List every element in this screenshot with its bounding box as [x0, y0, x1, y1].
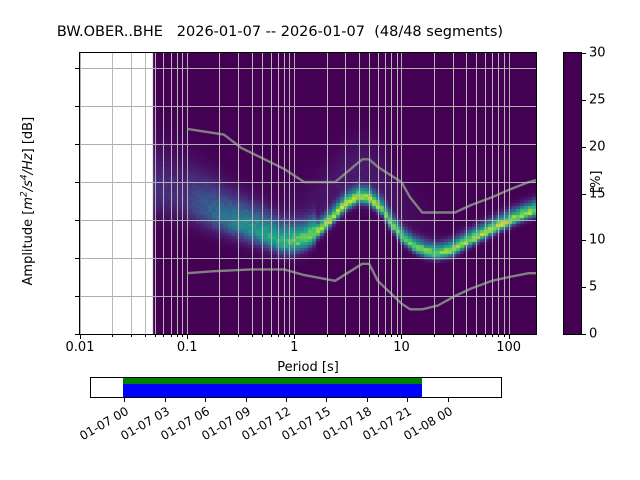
- x-tick-label: 10: [393, 340, 410, 355]
- x-tick-label: 0.01: [66, 340, 95, 355]
- gridline-vertical-minor: [289, 53, 290, 334]
- gridline-vertical-minor: [182, 53, 183, 334]
- y-tick-mark: [75, 296, 79, 297]
- x-tick-mark-minor: [434, 335, 435, 337]
- x-tick-label: 1: [290, 340, 298, 355]
- x-tick-mark-minor: [289, 335, 290, 337]
- gridline-vertical-minor: [131, 53, 132, 334]
- colorbar-tick-label: 20: [589, 139, 606, 154]
- gridline-vertical-minor: [327, 53, 328, 334]
- x-tick-mark-minor: [385, 335, 386, 337]
- colorbar-tick-mark: [582, 147, 586, 148]
- x-tick-mark-minor: [112, 335, 113, 337]
- data-coverage-blue: [123, 384, 422, 397]
- timeline-tick-mark: [286, 398, 287, 402]
- colorbar-tick-mark: [582, 194, 586, 195]
- gridline-vertical-minor: [262, 53, 263, 334]
- x-tick-mark: [80, 335, 81, 339]
- gridline-vertical-minor: [466, 53, 467, 334]
- colorbar-tick-mark: [582, 287, 586, 288]
- y-tick-mark: [75, 106, 79, 107]
- gridline-vertical-minor: [145, 53, 146, 334]
- x-tick-mark-minor: [327, 335, 328, 337]
- x-tick-mark-minor: [219, 335, 220, 337]
- colorbar[interactable]: [563, 52, 582, 335]
- y-tick-mark: [75, 220, 79, 221]
- gridline-vertical-minor: [453, 53, 454, 334]
- gridline-horizontal: [80, 220, 536, 221]
- x-tick-mark-minor: [252, 335, 253, 337]
- gridline-vertical-minor: [252, 53, 253, 334]
- timeline-tick-mark: [246, 398, 247, 402]
- gridline-vertical-minor: [485, 53, 486, 334]
- x-tick-mark-minor: [278, 335, 279, 337]
- timeline-tick-mark: [326, 398, 327, 402]
- timeline-tick-mark: [205, 398, 206, 402]
- ppsd-plot-area[interactable]: [79, 52, 537, 335]
- gridline-vertical-minor: [271, 53, 272, 334]
- y-tick-mark: [75, 144, 79, 145]
- x-tick-mark-minor: [466, 335, 467, 337]
- x-tick-mark: [509, 335, 510, 339]
- x-tick-mark-minor: [498, 335, 499, 337]
- gridline-vertical-minor: [219, 53, 220, 334]
- x-tick-mark-minor: [284, 335, 285, 337]
- gridline-vertical-major: [294, 53, 295, 334]
- gridline-vertical-minor: [284, 53, 285, 334]
- colorbar-tick-mark: [582, 334, 586, 335]
- x-tick-mark-minor: [131, 335, 132, 337]
- colorbar-tick-label: 5: [589, 280, 597, 295]
- gridline-vertical-major: [187, 53, 188, 334]
- x-tick-label: 0.1: [177, 340, 198, 355]
- x-tick-mark-minor: [271, 335, 272, 337]
- x-tick-mark-minor: [504, 335, 505, 337]
- gridline-vertical-minor: [476, 53, 477, 334]
- high-noise-model-line: [187, 129, 536, 213]
- gridline-vertical-minor: [238, 53, 239, 334]
- gridline-vertical-minor: [345, 53, 346, 334]
- gridline-vertical-minor: [434, 53, 435, 334]
- x-tick-mark-minor: [378, 335, 379, 337]
- x-tick-mark-minor: [345, 335, 346, 337]
- gridline-vertical-minor: [378, 53, 379, 334]
- x-tick-mark-minor: [155, 335, 156, 337]
- x-tick-mark-minor: [262, 335, 263, 337]
- gridline-vertical-minor: [369, 53, 370, 334]
- gridline-vertical-minor: [504, 53, 505, 334]
- gridline-vertical-minor: [278, 53, 279, 334]
- noise-model-curves: [80, 53, 536, 334]
- y-tick-mark: [75, 68, 79, 69]
- x-tick-mark-minor: [492, 335, 493, 337]
- gridline-horizontal: [80, 68, 536, 69]
- x-axis-label: Period [s]: [79, 360, 537, 375]
- gridline-vertical-major: [80, 53, 81, 334]
- timeline-tick-mark: [367, 398, 368, 402]
- timeline-tick-mark: [124, 398, 125, 402]
- y-tick-mark: [75, 334, 79, 335]
- gridline-vertical-minor: [385, 53, 386, 334]
- x-tick-mark-minor: [453, 335, 454, 337]
- x-tick-mark-minor: [359, 335, 360, 337]
- timeline-tick-mark: [165, 398, 166, 402]
- x-tick-label: 100: [496, 340, 521, 355]
- gridline-vertical-minor: [397, 53, 398, 334]
- x-tick-mark-minor: [485, 335, 486, 337]
- gridline-vertical-minor: [492, 53, 493, 334]
- y-tick-mark: [75, 258, 79, 259]
- gridline-vertical-minor: [391, 53, 392, 334]
- gridline-horizontal: [80, 296, 536, 297]
- gridline-vertical-minor: [163, 53, 164, 334]
- gridline-vertical-minor: [498, 53, 499, 334]
- x-tick-mark-minor: [163, 335, 164, 337]
- y-tick-mark: [75, 182, 79, 183]
- x-tick-mark-minor: [238, 335, 239, 337]
- page-title: BW.OBER..BHE 2026-01-07 -- 2026-01-07 (4…: [0, 24, 560, 40]
- gridline-vertical-minor: [155, 53, 156, 334]
- x-tick-mark: [401, 335, 402, 339]
- colorbar-tick-mark: [582, 100, 586, 101]
- gridline-vertical-minor: [359, 53, 360, 334]
- colorbar-tick-label: 30: [589, 46, 606, 61]
- gridline-horizontal: [80, 106, 536, 107]
- ppsd-figure: BW.OBER..BHE 2026-01-07 -- 2026-01-07 (4…: [0, 0, 640, 480]
- colorbar-label: [%]: [589, 171, 604, 194]
- x-tick-mark-minor: [476, 335, 477, 337]
- gridline-vertical-minor: [171, 53, 172, 334]
- x-tick-mark-minor: [182, 335, 183, 337]
- gridline-horizontal: [80, 182, 536, 183]
- colorbar-tick-label: 0: [589, 327, 597, 342]
- x-tick-mark-minor: [171, 335, 172, 337]
- gridline-horizontal: [80, 334, 536, 335]
- gridline-horizontal: [80, 144, 536, 145]
- data-coverage-timeline[interactable]: [90, 377, 502, 398]
- x-tick-mark-minor: [391, 335, 392, 337]
- y-axis-label: Amplitude [m2/s4/Hz] [dB]: [20, 56, 36, 346]
- gridline-vertical-major: [401, 53, 402, 334]
- colorbar-tick-mark: [582, 53, 586, 54]
- x-tick-mark-minor: [177, 335, 178, 337]
- gridline-horizontal: [80, 258, 536, 259]
- timeline-tick-mark: [407, 398, 408, 402]
- timeline-tick-mark: [448, 398, 449, 402]
- low-noise-model-line: [187, 264, 536, 310]
- gridline-vertical-major: [509, 53, 510, 334]
- x-tick-mark-minor: [397, 335, 398, 337]
- colorbar-tick-label: 10: [589, 233, 606, 248]
- colorbar-gradient: [564, 53, 581, 334]
- x-tick-mark: [187, 335, 188, 339]
- x-tick-mark-minor: [369, 335, 370, 337]
- x-tick-mark-minor: [145, 335, 146, 337]
- colorbar-tick-mark: [582, 240, 586, 241]
- x-tick-mark: [294, 335, 295, 339]
- gridline-vertical-minor: [112, 53, 113, 334]
- gridline-vertical-minor: [177, 53, 178, 334]
- colorbar-tick-label: 25: [589, 92, 606, 107]
